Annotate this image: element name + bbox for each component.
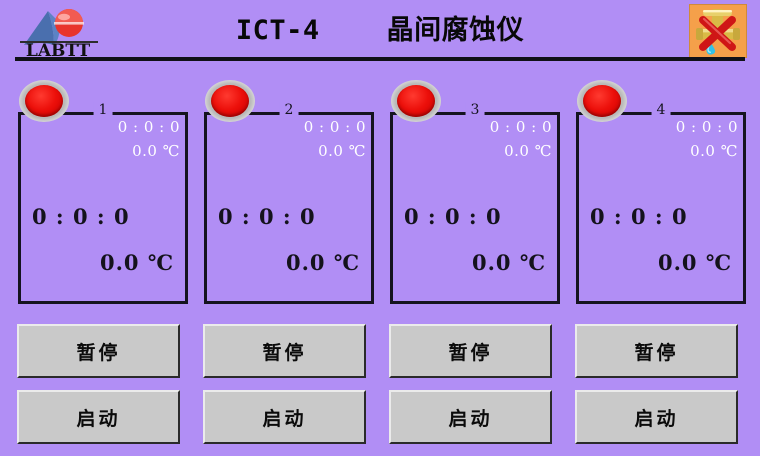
start-button-channel-2[interactable]: 启动 (203, 390, 366, 444)
current-temp-readout: 0.0 ℃ (286, 250, 360, 275)
header-divider (15, 57, 745, 61)
current-temp-readout: 0.0 ℃ (100, 250, 174, 275)
set-temp-readout: 0.0 ℃ (318, 142, 366, 160)
set-temp-readout: 0.0 ℃ (132, 142, 180, 160)
set-time-readout: 0 : 0 : 0 (490, 118, 552, 136)
channel-panel-4: 4 0 : 0 : 0 0.0 ℃ 0 : 0 : 0 0.0 ℃ (572, 78, 750, 310)
current-time-readout: 0 : 0 : 0 (404, 204, 502, 229)
current-time-readout: 0 : 0 : 0 (218, 204, 316, 229)
app-header: LABTT ICT-4 晶间腐蚀仪 (0, 0, 760, 62)
current-temp-readout: 0.0 ℃ (658, 250, 732, 275)
status-led-indicator[interactable] (577, 80, 627, 122)
channel-caption: 1 (94, 102, 113, 118)
set-temp-readout: 0.0 ℃ (504, 142, 552, 160)
channel-panel-row: 1 0 : 0 : 0 0.0 ℃ 0 : 0 : 0 0.0 ℃ 2 0 : … (0, 78, 760, 310)
set-time-readout: 0 : 0 : 0 (118, 118, 180, 136)
faucet-no-water-icon (689, 4, 747, 58)
channel-caption: 3 (466, 102, 485, 118)
status-led-indicator[interactable] (205, 80, 255, 122)
status-led-indicator[interactable] (391, 80, 441, 122)
channel-panel-2: 2 0 : 0 : 0 0.0 ℃ 0 : 0 : 0 0.0 ℃ (200, 78, 378, 310)
current-time-readout: 0 : 0 : 0 (32, 204, 130, 229)
pause-button-channel-3[interactable]: 暂停 (389, 324, 552, 378)
set-temp-readout: 0.0 ℃ (690, 142, 738, 160)
title-model: ICT-4 (236, 15, 320, 46)
pause-button-channel-1[interactable]: 暂停 (17, 324, 180, 378)
start-button-channel-3[interactable]: 启动 (389, 390, 552, 444)
current-temp-readout: 0.0 ℃ (472, 250, 546, 275)
start-button-channel-4[interactable]: 启动 (575, 390, 738, 444)
channel-panel-3: 3 0 : 0 : 0 0.0 ℃ 0 : 0 : 0 0.0 ℃ (386, 78, 564, 310)
start-button-channel-1[interactable]: 启动 (17, 390, 180, 444)
channel-caption: 2 (280, 102, 299, 118)
set-time-readout: 0 : 0 : 0 (676, 118, 738, 136)
set-time-readout: 0 : 0 : 0 (304, 118, 366, 136)
channel-panel-1: 1 0 : 0 : 0 0.0 ℃ 0 : 0 : 0 0.0 ℃ (14, 78, 192, 310)
title-name: 晶间腐蚀仪 (387, 15, 525, 46)
channel-caption: 4 (652, 102, 671, 118)
current-time-readout: 0 : 0 : 0 (590, 204, 688, 229)
pause-button-channel-4[interactable]: 暂停 (575, 324, 738, 378)
page-title: ICT-4 晶间腐蚀仪 (0, 8, 760, 47)
status-led-indicator[interactable] (19, 80, 69, 122)
control-button-area: 暂停 启动 暂停 启动 暂停 启动 暂停 启动 (0, 322, 760, 456)
pause-button-channel-2[interactable]: 暂停 (203, 324, 366, 378)
